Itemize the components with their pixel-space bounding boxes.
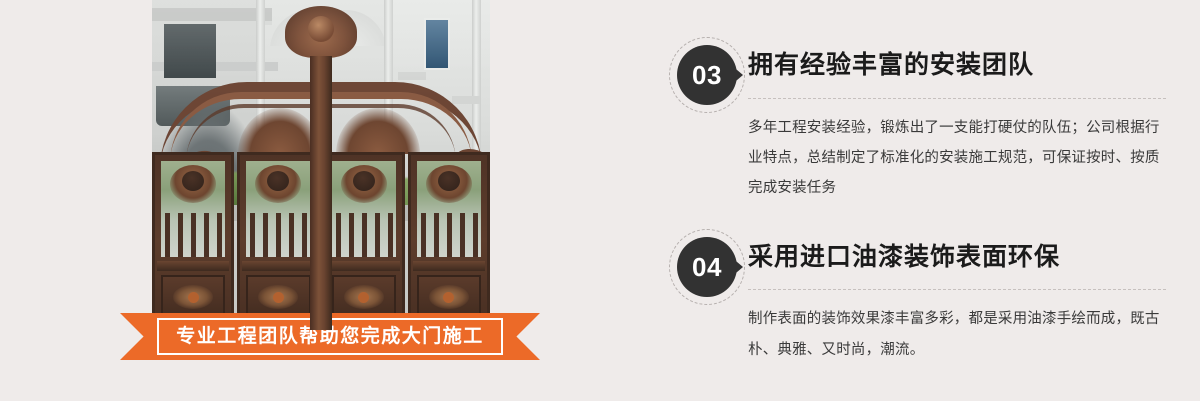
gate-photo [152,0,490,330]
feature-item-04: 04 采用进口油漆装饰表面环保 制作表面的装饰效果漆丰富多彩，都是采用油漆手绘而… [666,226,1166,365]
feature-description: 多年工程安装经验，锻炼出了一支能打硬仗的队伍；公司根据行业特点，总结制定了标准化… [748,113,1166,204]
feature-title: 拥有经验丰富的安装团队 [748,34,1166,98]
badge-pointer-icon [730,64,743,86]
bronze-gate [152,0,490,330]
feature-title: 采用进口油漆装饰表面环保 [748,226,1166,290]
feature-list: 03 拥有经验丰富的安装团队 多年工程安装经验，锻炼出了一支能打硬仗的队伍；公司… [666,34,1166,365]
feature-description: 制作表面的装饰效果漆丰富多彩，都是采用油漆手绘而成，既古朴、典雅、又时尚，潮流。 [748,304,1166,365]
badge-pointer-icon [730,256,743,278]
feature-badge-03: 03 [666,34,748,116]
badge-number: 04 [692,254,722,280]
feature-item-03: 03 拥有经验丰富的安装团队 多年工程安装经验，锻炼出了一支能打硬仗的队伍；公司… [666,34,1166,204]
badge-disc: 04 [677,237,737,297]
badge-number: 03 [692,62,722,88]
feature-section: 专业工程团队帮助您完成大门施工 03 拥有经验丰富的安装团队 多年工程安装经验，… [0,0,1200,401]
feature-divider [748,289,1166,290]
badge-disc: 03 [677,45,737,105]
feature-divider [748,98,1166,99]
feature-badge-04: 04 [666,226,748,308]
